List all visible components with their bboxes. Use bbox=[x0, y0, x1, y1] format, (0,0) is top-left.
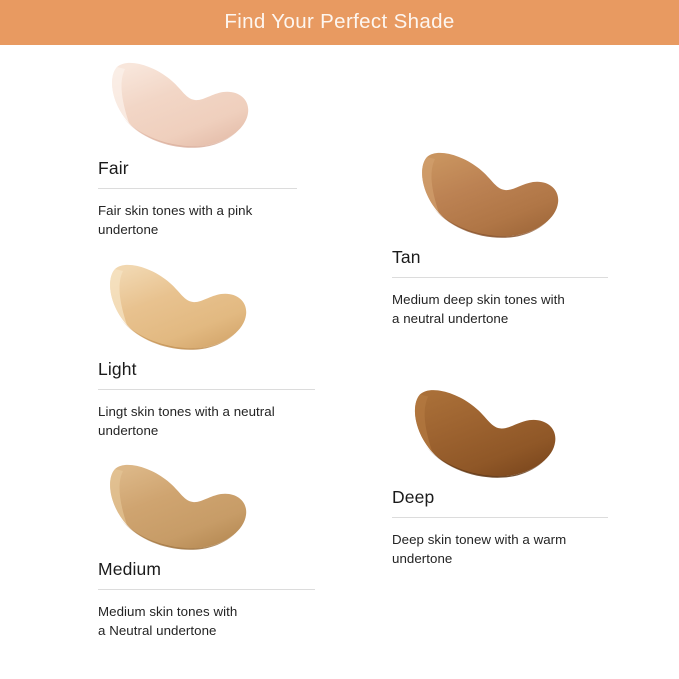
shade-divider-medium bbox=[98, 589, 315, 590]
shade-card-fair[interactable]: Fair Fair skin tones with a pink underto… bbox=[98, 55, 297, 240]
shade-name-tan: Tan bbox=[392, 248, 608, 267]
shade-divider-light bbox=[98, 389, 315, 390]
foundation-swatch-icon bbox=[105, 55, 255, 150]
shade-board: Fair Fair skin tones with a pink underto… bbox=[0, 45, 679, 679]
shade-description-medium: Medium skin tones with a Neutral underto… bbox=[98, 603, 315, 641]
foundation-swatch-icon bbox=[406, 382, 564, 480]
swatch-tan bbox=[414, 145, 630, 240]
swatch-medium bbox=[102, 457, 319, 552]
shade-divider-fair bbox=[98, 188, 297, 189]
page-header-band: Find Your Perfect Shade bbox=[0, 0, 679, 45]
foundation-swatch-icon bbox=[414, 145, 566, 240]
shade-card-medium[interactable]: Medium Medium skin tones with a Neutral … bbox=[98, 457, 315, 641]
shade-name-deep: Deep bbox=[392, 488, 608, 507]
shade-description-deep: Deep skin tonew with a warm undertone bbox=[392, 531, 608, 569]
page-title: Find Your Perfect Shade bbox=[224, 12, 454, 34]
swatch-fair bbox=[105, 55, 304, 150]
shade-card-deep[interactable]: Deep Deep skin tonew with a warm underto… bbox=[392, 382, 608, 569]
swatch-light bbox=[102, 257, 319, 352]
foundation-swatch-icon bbox=[102, 457, 254, 552]
shade-name-fair: Fair bbox=[98, 159, 297, 178]
swatch-deep bbox=[406, 382, 622, 480]
shade-card-tan[interactable]: Tan Medium deep skin tones with a neutra… bbox=[392, 145, 608, 329]
shade-description-tan: Medium deep skin tones with a neutral un… bbox=[392, 291, 608, 329]
foundation-swatch-icon bbox=[102, 257, 254, 352]
shade-name-medium: Medium bbox=[98, 560, 315, 579]
shade-divider-tan bbox=[392, 277, 608, 278]
shade-card-light[interactable]: Light Lingt skin tones with a neutral un… bbox=[98, 257, 315, 441]
shade-name-light: Light bbox=[98, 360, 315, 379]
shade-divider-deep bbox=[392, 517, 608, 518]
shade-description-light: Lingt skin tones with a neutral underton… bbox=[98, 403, 315, 441]
shade-description-fair: Fair skin tones with a pink undertone bbox=[98, 202, 297, 240]
